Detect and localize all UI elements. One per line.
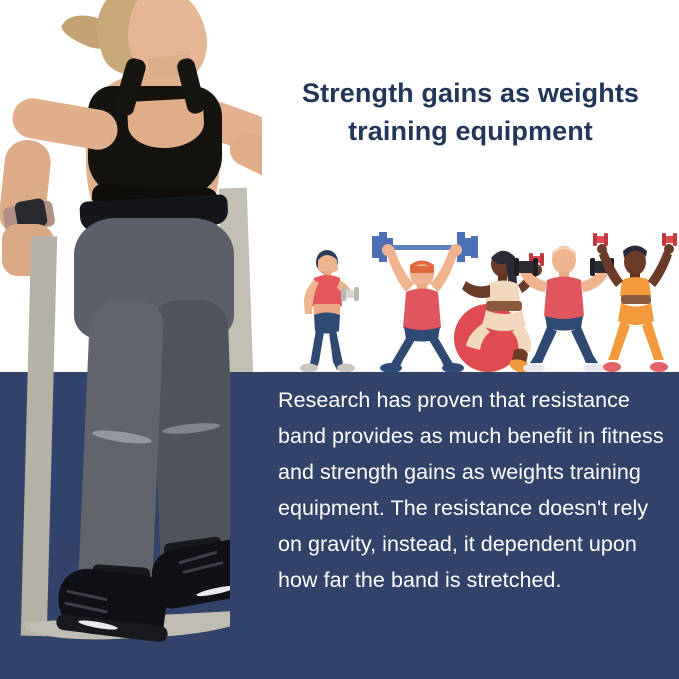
description-text: Research has proven that resistance band… bbox=[278, 382, 670, 598]
product-infographic: Strength gains as weights training equip… bbox=[0, 0, 679, 679]
model-left-leg bbox=[77, 299, 164, 602]
page-title: Strength gains as weights training equip… bbox=[268, 74, 673, 150]
exercise-illustration bbox=[262, 212, 679, 374]
fitness-photo bbox=[0, 0, 262, 679]
description-panel: Research has proven that resistance band… bbox=[230, 372, 679, 679]
figure-woman-overhead-raise-dumbbells bbox=[590, 222, 679, 374]
model-right-leg bbox=[151, 299, 236, 573]
content-column: Strength gains as weights training equip… bbox=[262, 0, 679, 679]
